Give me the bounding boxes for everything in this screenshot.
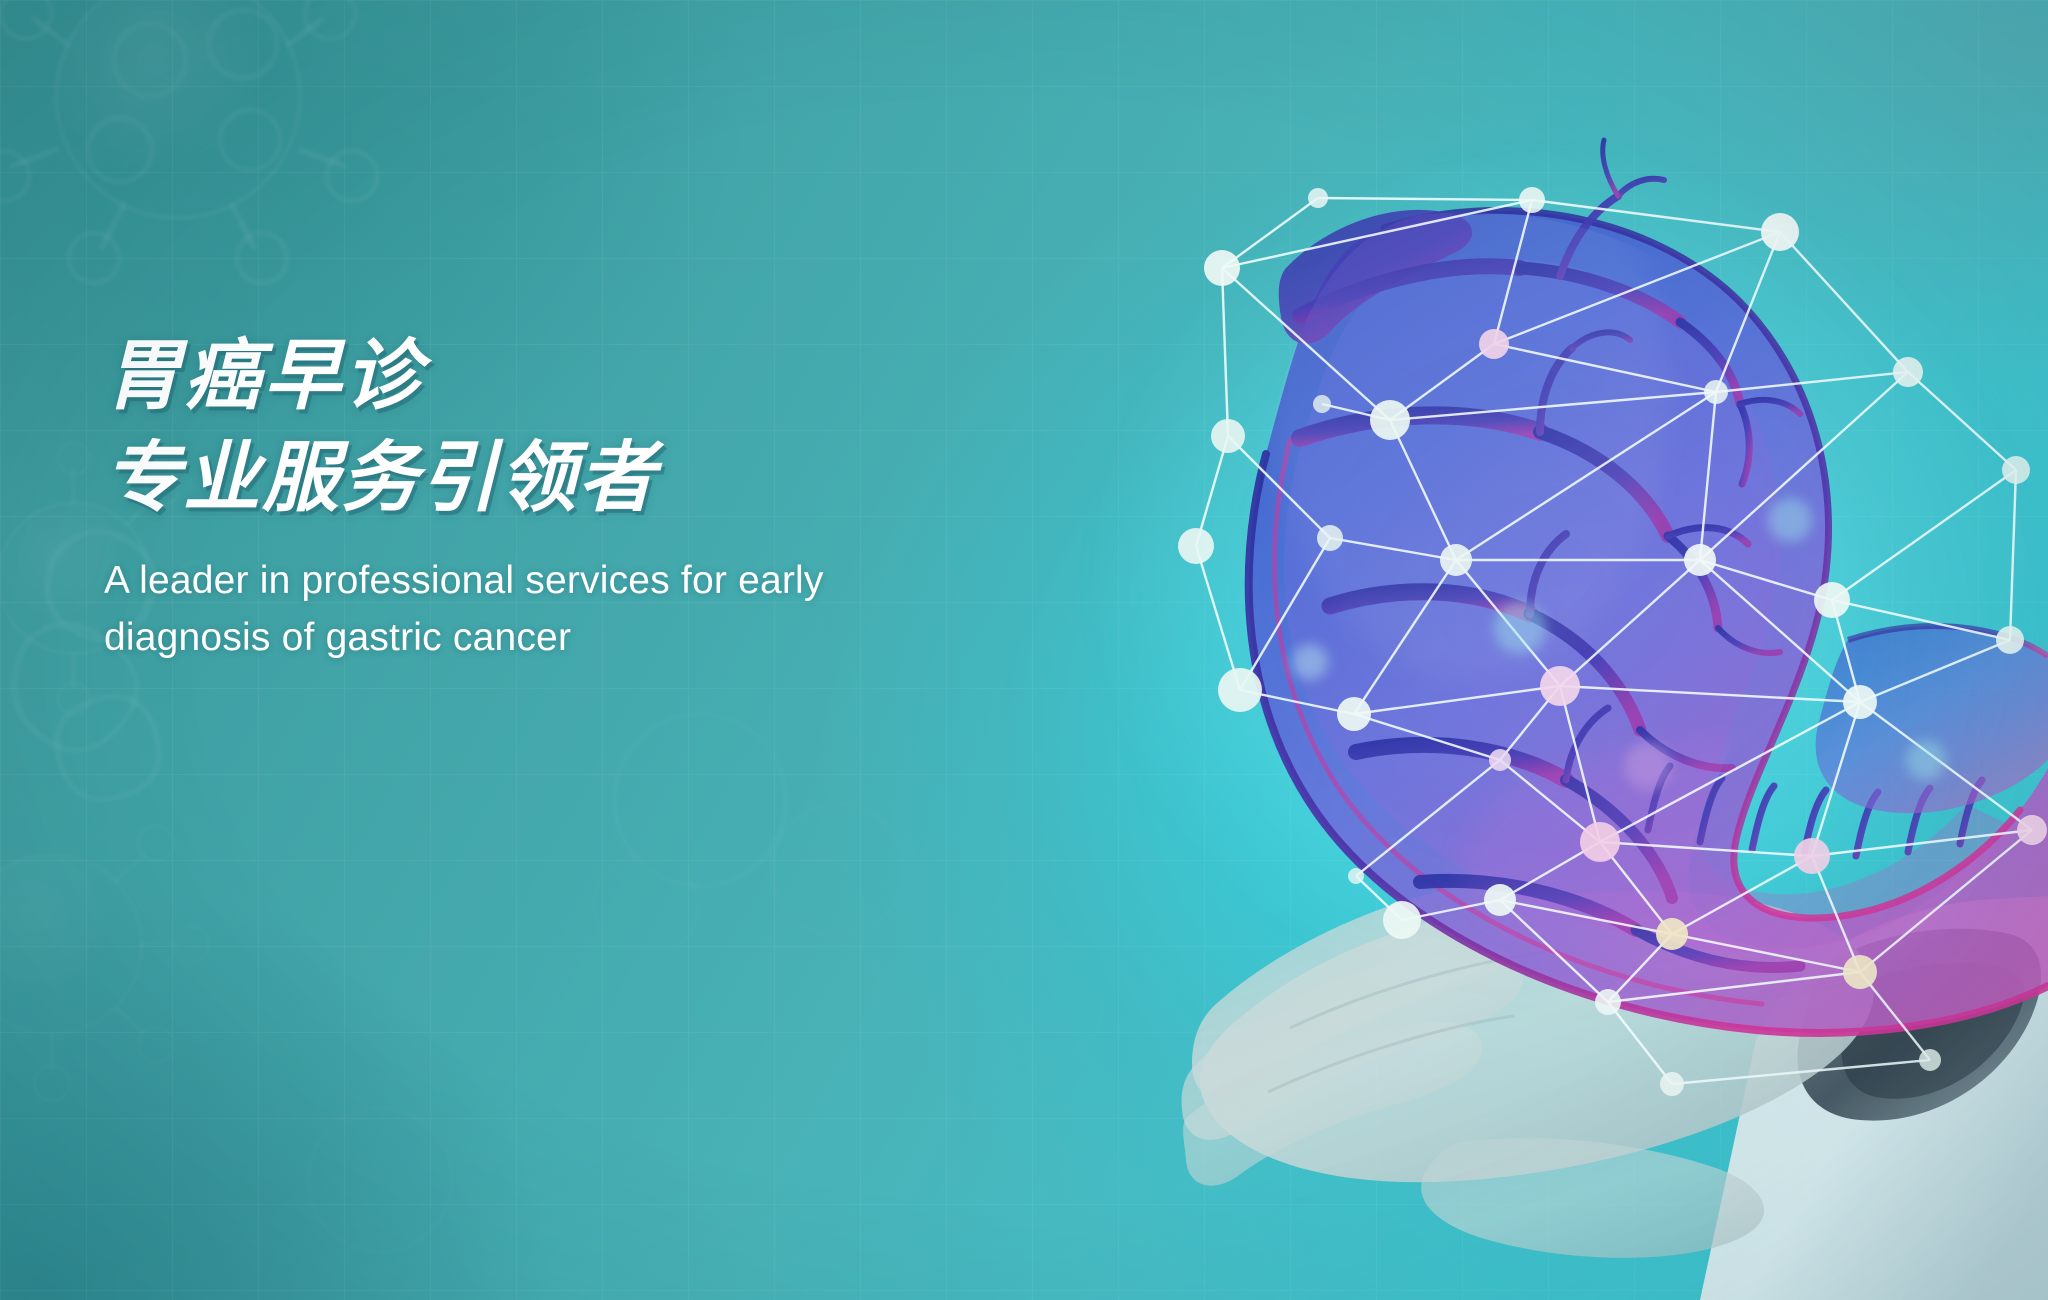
banner-root: 胃癌早诊 专业服务引领者 A leader in professional se… xyxy=(0,0,2048,1300)
vignette-overlay xyxy=(0,0,2048,1300)
